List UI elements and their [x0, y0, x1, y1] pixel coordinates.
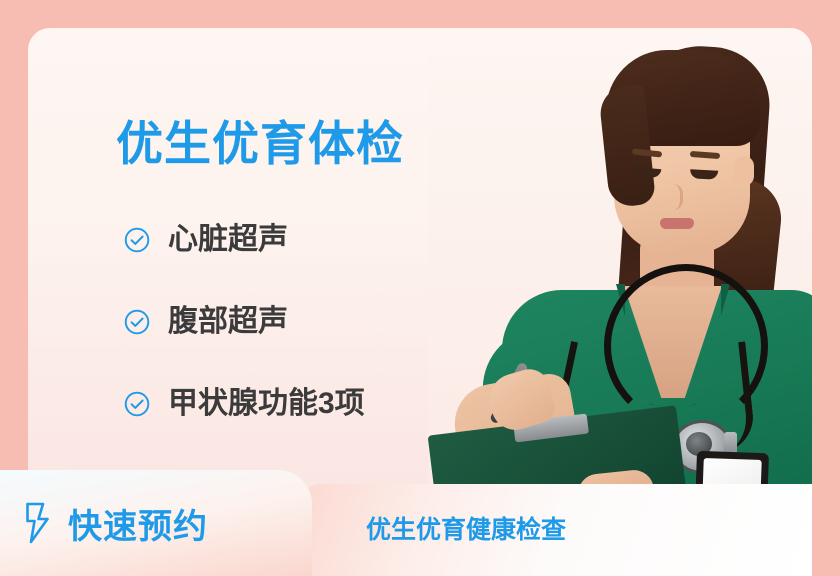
check-circle-icon: [124, 227, 150, 253]
list-item: 心脏超声: [124, 218, 464, 262]
promo-banner: 优生优育体检 心脏超声 腹部超声: [0, 0, 840, 576]
footer-bar: 优生优育健康检查: [296, 484, 812, 576]
footer-label: 优生优育健康检查: [366, 510, 566, 546]
list-item-label: 腹部超声: [168, 307, 288, 337]
list-item-label: 甲状腺功能3项: [168, 389, 365, 419]
list-item-label: 心脏超声: [168, 225, 288, 255]
quick-booking-button[interactable]: 快速预约: [0, 470, 312, 576]
nurse-photo: [428, 28, 812, 498]
feature-list: 心脏超声 腹部超声 甲状腺功能3项: [124, 218, 464, 426]
nose: [664, 184, 683, 210]
check-circle-icon: [124, 391, 150, 417]
quick-booking-label: 快速预约: [68, 499, 208, 548]
list-item: 腹部超声: [124, 300, 464, 344]
lightning-bolt-icon: [22, 502, 52, 544]
ear: [734, 156, 754, 186]
page-title: 优生优育体检: [116, 120, 404, 167]
list-item: 甲状腺功能3项: [124, 382, 464, 426]
mouth: [660, 218, 694, 229]
check-circle-icon: [124, 309, 150, 335]
